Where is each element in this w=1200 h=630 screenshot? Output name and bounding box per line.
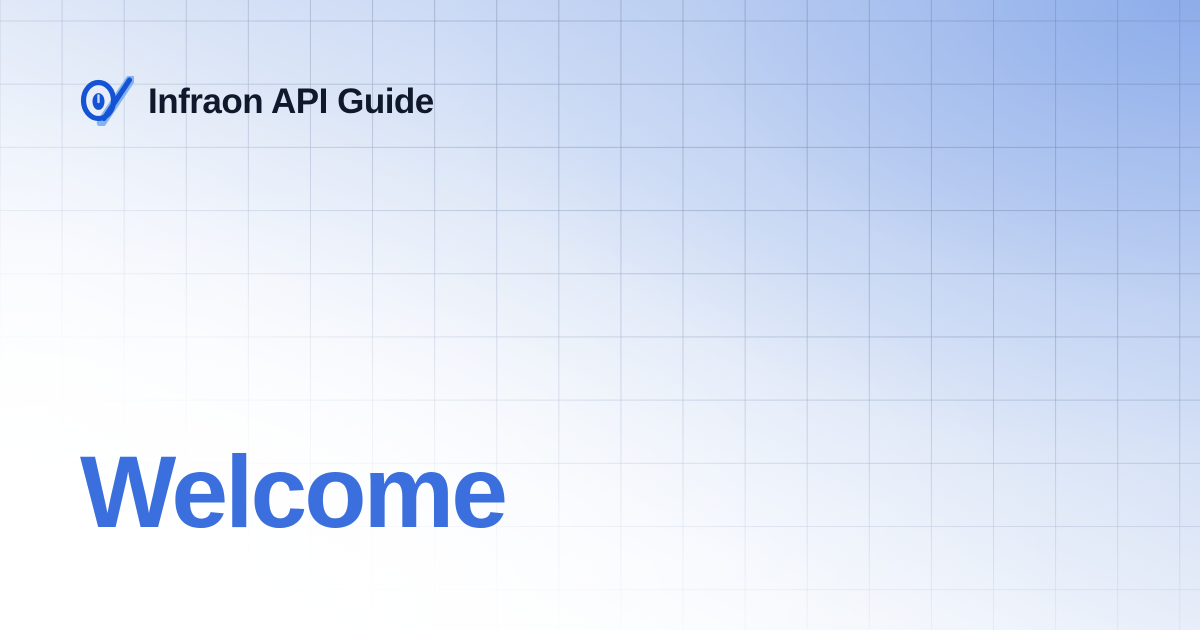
page-title: Welcome — [80, 441, 505, 543]
brand-header: Infraon API Guide — [80, 74, 434, 128]
infraon-eye-check-logo-icon — [80, 76, 134, 126]
welcome-banner: Infraon API Guide Welcome — [0, 0, 1200, 630]
brand-title: Infraon API Guide — [148, 84, 434, 119]
